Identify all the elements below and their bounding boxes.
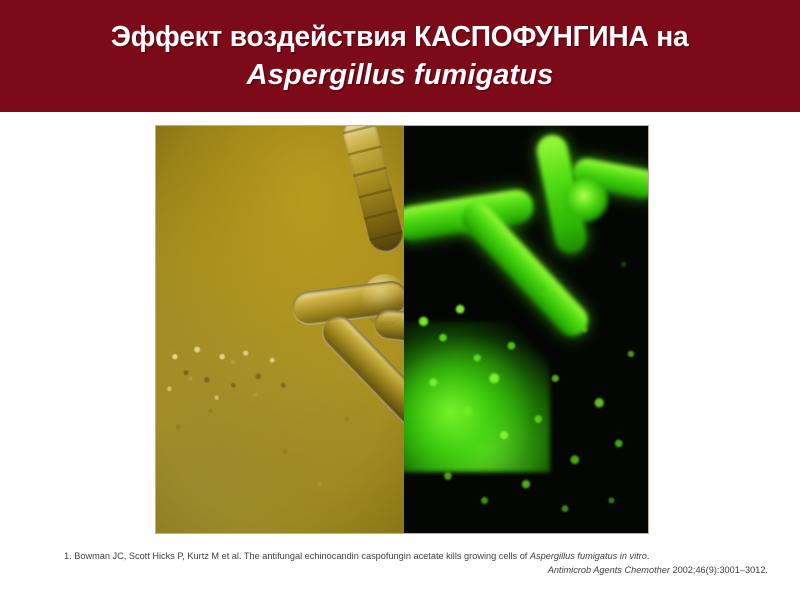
citation-journal-detail: 2002;46(9):3001–3012. <box>670 565 768 575</box>
debris-granules <box>161 330 300 420</box>
citation-line1-period: . <box>647 551 650 561</box>
citation-reference-text: 1. Bowman JC, Scott Hicks P, Kurtz M et … <box>64 551 530 561</box>
citation-line-2: Antimicrob Agents Chemother 2002;46(9):3… <box>64 563 768 577</box>
page-title-line-1: Эффект воздействия КАСПОФУНГИНА на <box>111 18 689 56</box>
citation-line-1: 1. Bowman JC, Scott Hicks P, Kurtz M et … <box>64 549 768 563</box>
micrograph-figure <box>155 125 649 534</box>
micrograph-panel-row <box>156 126 648 533</box>
fluorescence-panel <box>404 126 648 533</box>
page-title-line-2: Aspergillus fumigatus <box>247 56 554 94</box>
citation: 1. Bowman JC, Scott Hicks P, Kurtz M et … <box>64 549 768 577</box>
fluor-specks <box>404 126 648 533</box>
citation-species-italic: Aspergillus fumigatus in vitro <box>530 551 647 561</box>
citation-journal-name: Antimicrob Agents Chemother <box>548 565 670 575</box>
title-banner: Эффект воздействия КАСПОФУНГИНА на Asper… <box>0 0 800 112</box>
brightfield-dic-panel <box>156 126 404 533</box>
